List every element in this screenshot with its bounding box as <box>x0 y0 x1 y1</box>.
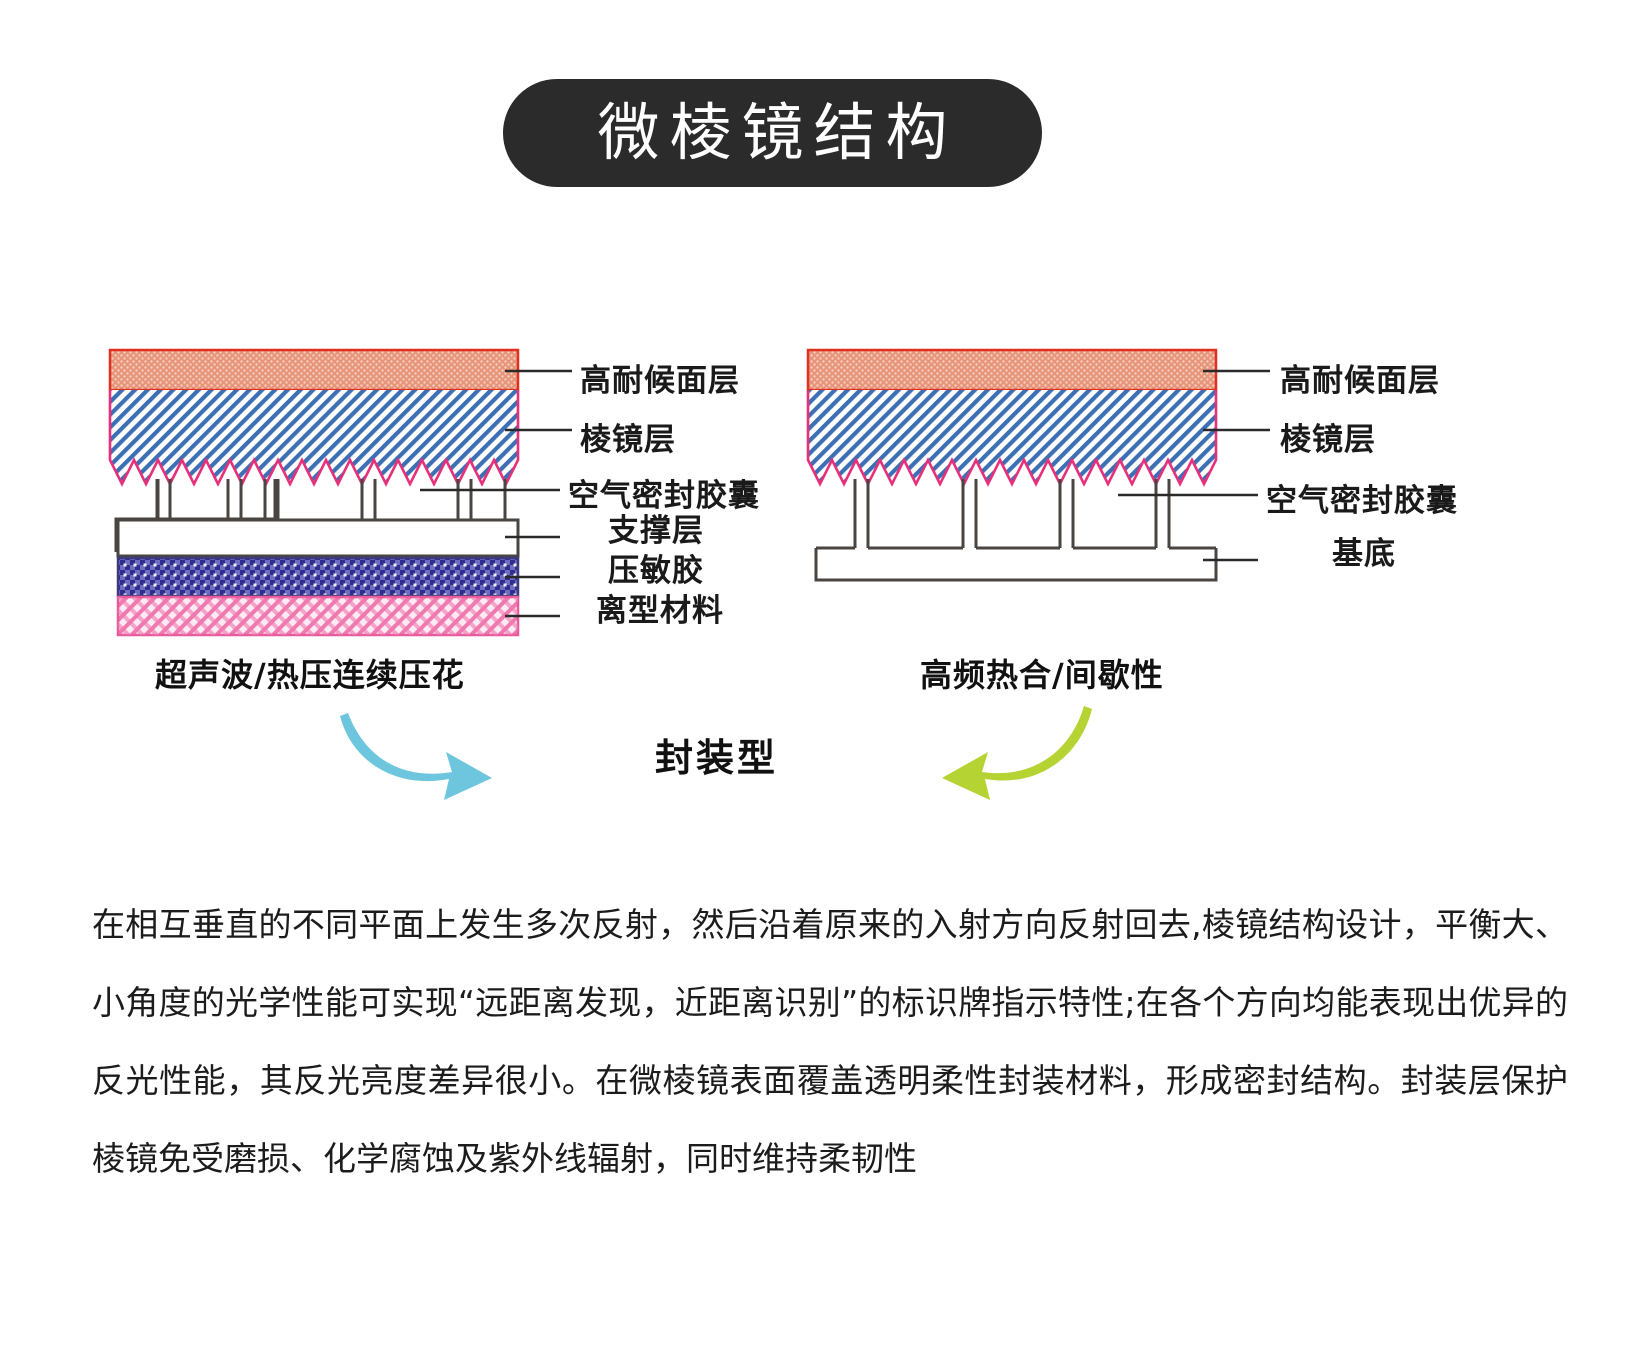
left-label-prism-layer: 棱镜层 <box>580 414 676 459</box>
left-release-layer-crosshatch <box>118 597 518 635</box>
left-adhesive-layer-block <box>118 558 518 596</box>
page-root: 微棱镜结构 <box>0 0 1646 1352</box>
right-label-prism-layer: 棱镜层 <box>1280 414 1376 459</box>
description-text: 在相互垂直的不同平面上发生多次反射，然后沿着原来的入射方向反射回去,棱镜结构设计… <box>92 886 1568 1198</box>
left-support-layer-shape <box>116 479 275 552</box>
right-process-caption: 高频热合/间歇性 <box>920 650 1164 696</box>
right-label-air-seal-capsule: 空气密封胶囊 <box>1266 475 1458 520</box>
right-process-arrow <box>942 706 1092 800</box>
left-top-weather-layer-block <box>110 350 518 390</box>
left-structure-graphic <box>110 350 572 635</box>
left-label-support-layer: 支撑层 <box>608 505 704 550</box>
right-label-top-weather-layer: 高耐候面层 <box>1280 355 1440 400</box>
right-prism-layer-block <box>808 390 1216 484</box>
right-substrate-plate <box>816 548 1216 580</box>
left-support-walls <box>157 479 505 520</box>
left-process-arrow <box>340 713 492 800</box>
center-type-label: 封装型 <box>655 727 778 782</box>
right-label-substrate: 基底 <box>1332 528 1396 573</box>
left-label-top-weather-layer: 高耐候面层 <box>580 355 740 400</box>
right-top-weather-layer-block <box>808 350 1216 390</box>
left-prism-layer-block <box>110 390 518 484</box>
right-support-walls <box>855 479 1169 548</box>
description-paragraph: 在相互垂直的不同平面上发生多次反射，然后沿着原来的入射方向反射回去,棱镜结构设计… <box>92 886 1568 1198</box>
right-structure-graphic <box>808 350 1270 580</box>
left-label-pressure-sensitive-adhesive: 压敏胶 <box>608 545 704 590</box>
left-process-caption: 超声波/热压连续压花 <box>155 650 465 696</box>
left-label-release-material: 离型材料 <box>596 585 724 630</box>
left-support-base-plate <box>118 520 518 556</box>
